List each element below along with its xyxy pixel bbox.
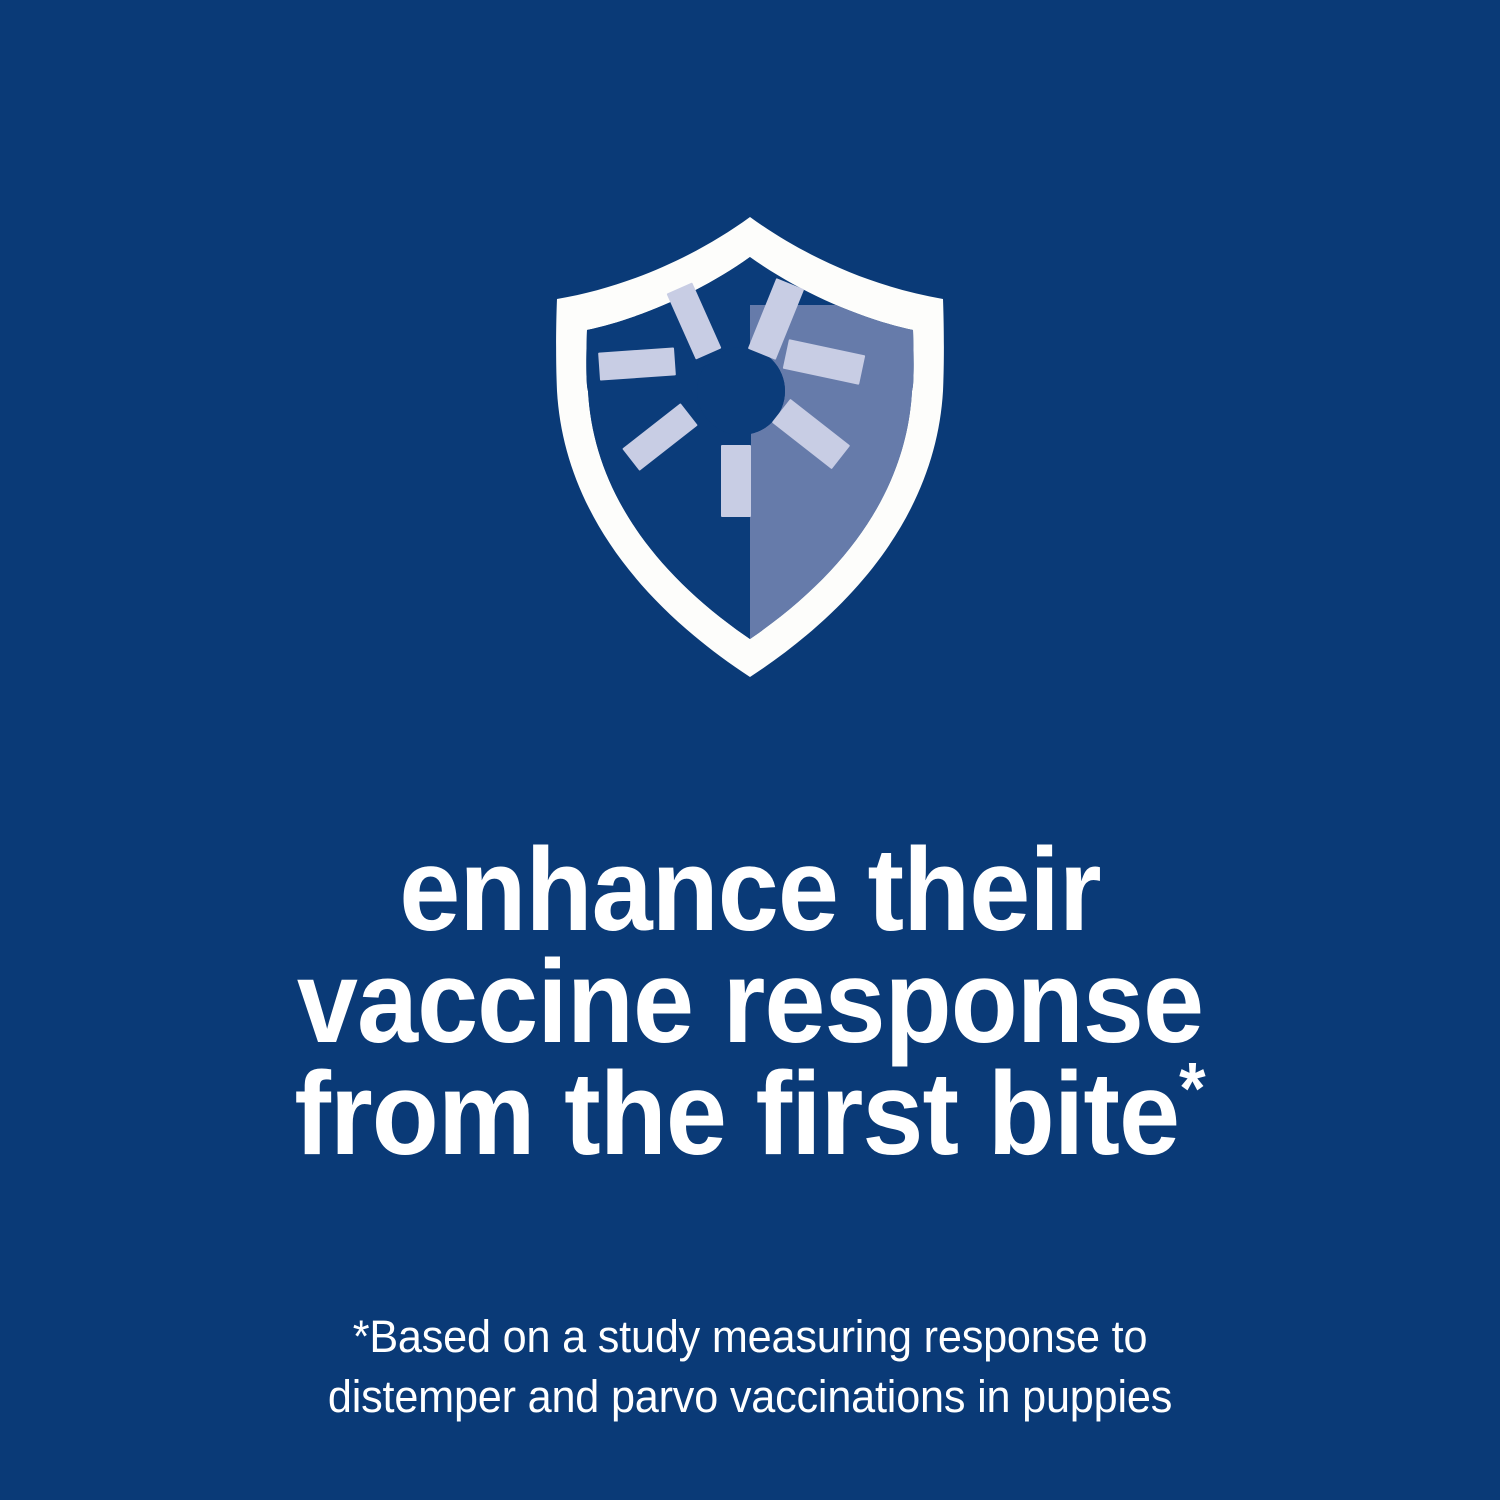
burst-center-dot-overlay <box>697 347 785 435</box>
headline-line-3: from the first bite* <box>53 1058 1448 1170</box>
shield-burst-icon <box>535 195 965 695</box>
footnote-line-1: *Based on a study measuring response to <box>30 1307 1470 1367</box>
headline-line-1: enhance their <box>53 834 1448 946</box>
page-title: enhance their vaccine response from the … <box>0 834 1500 1170</box>
headline-line-3-text: from the first bite <box>294 1048 1179 1180</box>
headline-line-2: vaccine response <box>53 946 1448 1058</box>
footnote-line-2: distemper and parvo vaccinations in pupp… <box>30 1367 1470 1427</box>
poster-canvas: enhance their vaccine response from the … <box>0 0 1500 1500</box>
emblem-container <box>0 195 1500 695</box>
footnote-marker: * <box>1179 1048 1205 1130</box>
footnote-text: *Based on a study measuring response to … <box>0 1307 1500 1427</box>
